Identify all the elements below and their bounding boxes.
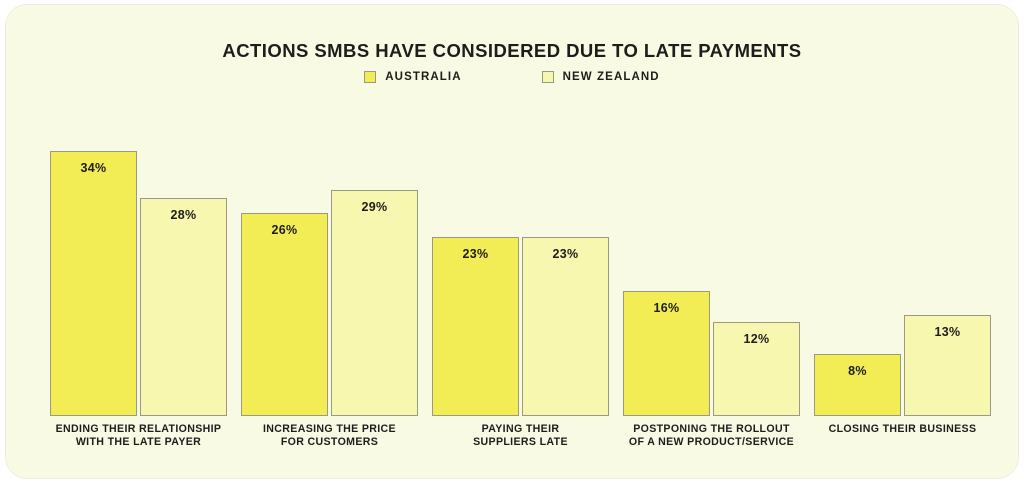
bar-australia-4[interactable]: 16% bbox=[623, 291, 710, 416]
bar-new-zealand-1[interactable]: 28% bbox=[140, 198, 227, 416]
bar-group: 23%23%PAYING THEIR SUPPLIERS LATE bbox=[432, 135, 609, 416]
category-label: ENDING THEIR RELATIONSHIP WITH THE LATE … bbox=[38, 423, 239, 449]
bar-value-label: 8% bbox=[815, 364, 900, 378]
bar-new-zealand-5[interactable]: 13% bbox=[904, 315, 991, 416]
bar-group-bars: 34%28% bbox=[50, 136, 227, 416]
category-label: CLOSING THEIR BUSINESS bbox=[802, 423, 1003, 436]
bar-group: 34%28%ENDING THEIR RELATIONSHIP WITH THE… bbox=[50, 135, 227, 416]
category-label: INCREASING THE PRICE FOR CUSTOMERS bbox=[229, 423, 430, 449]
chart-card: ACTIONS SMBS HAVE CONSIDERED DUE TO LATE… bbox=[5, 4, 1019, 479]
bar-value-label: 12% bbox=[714, 332, 799, 346]
bar-group: 16%12%POSTPONING THE ROLLOUT OF A NEW PR… bbox=[623, 135, 800, 416]
bar-new-zealand-2[interactable]: 29% bbox=[331, 190, 418, 416]
bar-group-bars: 23%23% bbox=[432, 136, 609, 416]
bar-australia-1[interactable]: 34% bbox=[50, 151, 137, 416]
bar-new-zealand-3[interactable]: 23% bbox=[522, 237, 609, 416]
bar-value-label: 34% bbox=[51, 161, 136, 175]
bar-value-label: 28% bbox=[141, 208, 226, 222]
bar-group-bars: 16%12% bbox=[623, 136, 800, 416]
bar-group-bars: 26%29% bbox=[241, 136, 418, 416]
bar-value-label: 26% bbox=[242, 223, 327, 237]
bar-group-bars: 8%13% bbox=[814, 136, 991, 416]
category-label: POSTPONING THE ROLLOUT OF A NEW PRODUCT/… bbox=[611, 423, 812, 449]
bar-group: 26%29%INCREASING THE PRICE FOR CUSTOMERS bbox=[241, 135, 418, 416]
bar-value-label: 13% bbox=[905, 325, 990, 339]
bar-australia-2[interactable]: 26% bbox=[241, 213, 328, 416]
category-label: PAYING THEIR SUPPLIERS LATE bbox=[420, 423, 621, 449]
bar-value-label: 23% bbox=[433, 247, 518, 261]
chart-plot-area: 34%28%ENDING THEIR RELATIONSHIP WITH THE… bbox=[6, 5, 1018, 478]
bar-group: 8%13%CLOSING THEIR BUSINESS bbox=[814, 135, 991, 416]
bar-new-zealand-4[interactable]: 12% bbox=[713, 322, 800, 416]
bar-value-label: 16% bbox=[624, 301, 709, 315]
bar-value-label: 23% bbox=[523, 247, 608, 261]
bar-value-label: 29% bbox=[332, 200, 417, 214]
bar-australia-5[interactable]: 8% bbox=[814, 354, 901, 416]
bar-australia-3[interactable]: 23% bbox=[432, 237, 519, 416]
